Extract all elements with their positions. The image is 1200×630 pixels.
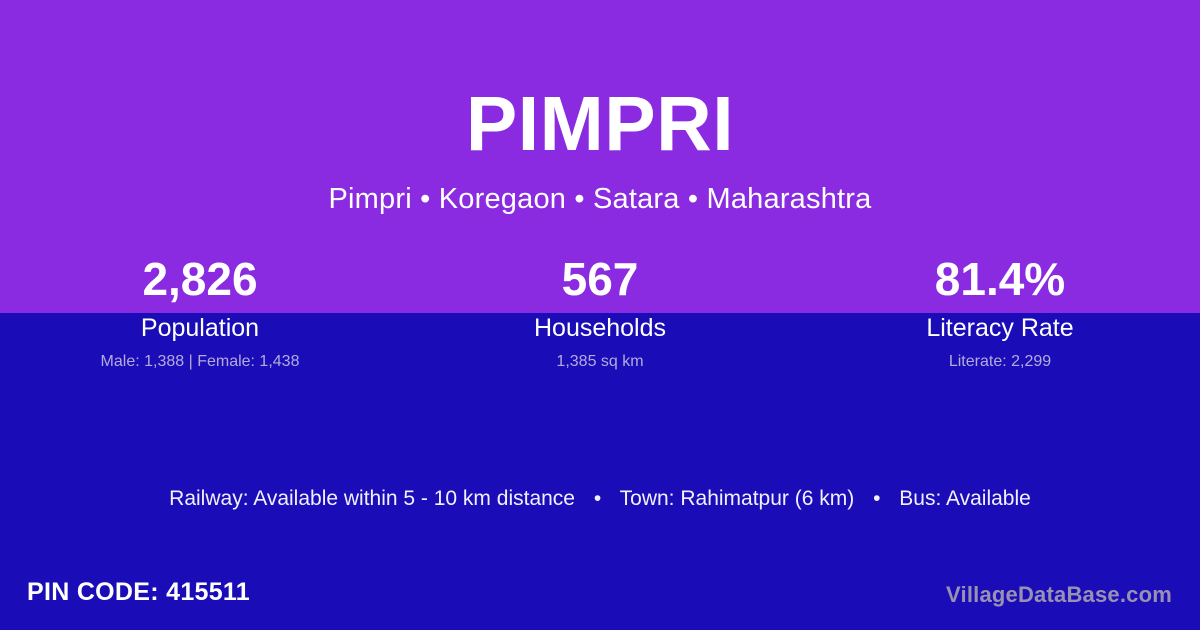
stat-population: 2,826 Population Male: 1,388 | Female: 1… <box>0 248 400 373</box>
card-footer: PIN CODE: 415511 VillageDataBase.com <box>0 575 1200 630</box>
breadcrumb: Pimpri • Koregaon • Satara • Maharashtra <box>0 182 1200 217</box>
stat-sublabel: 1,385 sq km <box>400 351 800 373</box>
amenity-town: Town: Rahimatpur (6 km) <box>620 487 855 510</box>
stat-literacy-rate: 81.4% Literacy Rate Literate: 2,299 <box>800 248 1200 373</box>
stat-label: Literacy Rate <box>800 311 1200 345</box>
stats-row: 2,826 Population Male: 1,388 | Female: 1… <box>0 248 1200 373</box>
stat-label: Households <box>400 311 800 345</box>
stat-value: 567 <box>400 248 800 310</box>
bullet-separator-icon: • <box>581 484 614 514</box>
stat-label: Population <box>0 311 400 345</box>
page-title: PIMPRI <box>0 86 1200 163</box>
village-info-card: PIMPRI Pimpri • Koregaon • Satara • Maha… <box>0 0 1200 630</box>
pin-code-label: PIN CODE: 415511 <box>27 575 250 609</box>
amenity-railway: Railway: Available within 5 - 10 km dist… <box>169 487 575 510</box>
amenity-bus: Bus: Available <box>899 487 1031 510</box>
amenities-row: Railway: Available within 5 - 10 km dist… <box>0 484 1200 514</box>
brand-watermark: VillageDataBase.com <box>946 580 1172 610</box>
stat-value: 2,826 <box>0 248 400 310</box>
stat-sublabel: Male: 1,388 | Female: 1,438 <box>0 351 400 373</box>
stat-households: 567 Households 1,385 sq km <box>400 248 800 373</box>
bullet-separator-icon: • <box>860 484 893 514</box>
stat-sublabel: Literate: 2,299 <box>800 351 1200 373</box>
stat-value: 81.4% <box>800 248 1200 310</box>
